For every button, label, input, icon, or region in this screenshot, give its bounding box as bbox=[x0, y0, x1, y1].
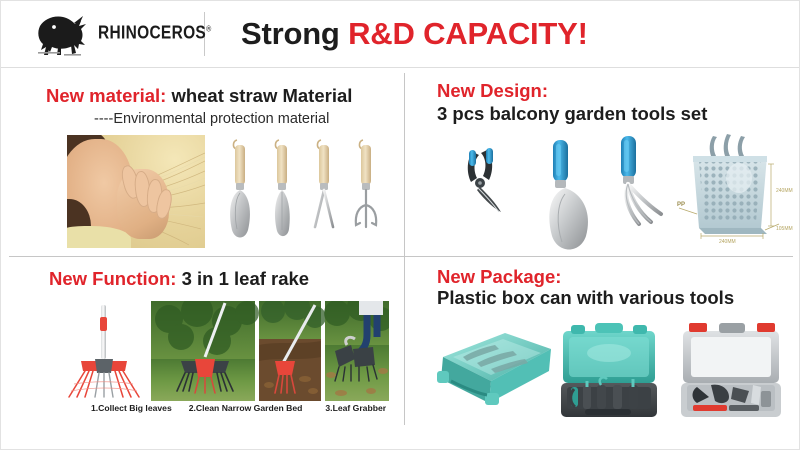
brand-logo: RHINOCEROS® bbox=[34, 11, 194, 57]
rake-caption-3: 3.Leaf Grabber bbox=[325, 403, 386, 413]
slide-header: RHINOCEROS® Strong R&D CAPACITY! bbox=[1, 1, 799, 68]
tool-hand-fork bbox=[315, 140, 333, 229]
new-material-headings: New material: wheat straw Material ----E… bbox=[46, 86, 352, 128]
leaf-rake-product-graphic bbox=[69, 305, 139, 397]
rake-caption-2: 2.Clean Narrow Garden Bed bbox=[189, 403, 303, 413]
rake-photo-leaf-grabber bbox=[324, 301, 389, 401]
new-material-subtitle: ----Environmental protection material bbox=[94, 111, 352, 128]
new-package-heading: New Package: bbox=[437, 267, 734, 288]
rake-photo-collect-leaves bbox=[151, 301, 259, 401]
page-title-black: Strong bbox=[241, 16, 340, 51]
brand-wordmark: RHINOCEROS® bbox=[98, 23, 212, 44]
rhinoceros-icon bbox=[34, 12, 96, 56]
content-grid: New material: wheat straw Material ----E… bbox=[1, 68, 800, 428]
panel-new-design: New Design: 3 pcs balcony garden tools s… bbox=[405, 68, 800, 256]
new-package-headline: Plastic box can with various tools bbox=[437, 288, 734, 309]
new-package-label: New Package: bbox=[437, 266, 561, 287]
new-material-label: New material: bbox=[46, 85, 166, 106]
new-material-heading: New material: wheat straw Material bbox=[46, 86, 352, 107]
cultivator-graphic bbox=[621, 136, 661, 224]
tool-trowel bbox=[230, 140, 250, 238]
new-function-headline: 3 in 1 leaf rake bbox=[182, 268, 310, 289]
new-design-label: New Design: bbox=[437, 80, 548, 101]
new-material-headline: wheat straw Material bbox=[171, 85, 352, 106]
tool-cultivator bbox=[356, 140, 376, 227]
slide-root: RHINOCEROS® Strong R&D CAPACITY! New mat… bbox=[0, 0, 800, 450]
material-callout: PP bbox=[677, 202, 697, 214]
new-material-media bbox=[67, 135, 397, 248]
new-design-media: 240MM 240MM 105MM PP bbox=[423, 128, 795, 250]
leaf-rake-captions: 1.Collect Big leaves 2.Clean Narrow Gard… bbox=[29, 403, 391, 413]
wheat-field-photo bbox=[67, 135, 205, 248]
new-design-headings: New Design: 3 pcs balcony garden tools s… bbox=[437, 81, 707, 124]
svg-text:240MM: 240MM bbox=[776, 188, 793, 194]
page-title: Strong R&D CAPACITY! bbox=[241, 16, 588, 52]
svg-text:240MM: 240MM bbox=[719, 239, 736, 245]
page-title-accent: R&D CAPACITY! bbox=[348, 16, 588, 51]
panel-new-function: New Function: 3 in 1 leaf rake bbox=[1, 257, 404, 428]
new-function-heading: New Function: 3 in 1 leaf rake bbox=[49, 269, 309, 290]
new-package-media bbox=[419, 313, 797, 418]
trowel-graphic bbox=[549, 140, 588, 250]
svg-text:PP: PP bbox=[677, 202, 685, 208]
new-function-label: New Function: bbox=[49, 268, 176, 289]
open-teal-tool-case-graphic bbox=[561, 323, 657, 417]
new-design-heading: New Design: bbox=[437, 81, 707, 102]
new-package-headings: New Package: Plastic box can with variou… bbox=[437, 267, 734, 308]
svg-text:105MM: 105MM bbox=[776, 226, 793, 232]
open-grey-tool-case-graphic bbox=[681, 323, 781, 417]
registered-mark: ® bbox=[206, 26, 211, 34]
closed-tool-case-graphic bbox=[437, 333, 551, 405]
tool-caddy-basket-graphic: 240MM 240MM 105MM PP bbox=[677, 134, 793, 245]
rake-caption-1: 1.Collect Big leaves bbox=[91, 403, 172, 413]
leaf-rake-media bbox=[29, 301, 389, 401]
pruning-shears-graphic bbox=[468, 148, 501, 212]
tool-transplanter bbox=[275, 140, 290, 236]
rake-photo-narrow-bed bbox=[259, 301, 326, 401]
panel-new-package: New Package: Plastic box can with variou… bbox=[405, 257, 800, 428]
panel-new-material: New material: wheat straw Material ----E… bbox=[1, 68, 404, 256]
new-design-headline: 3 pcs balcony garden tools set bbox=[437, 104, 707, 125]
straw-handle-tools-graphic bbox=[217, 135, 397, 248]
brand-wordmark-text: RHINOCEROS bbox=[98, 23, 206, 43]
